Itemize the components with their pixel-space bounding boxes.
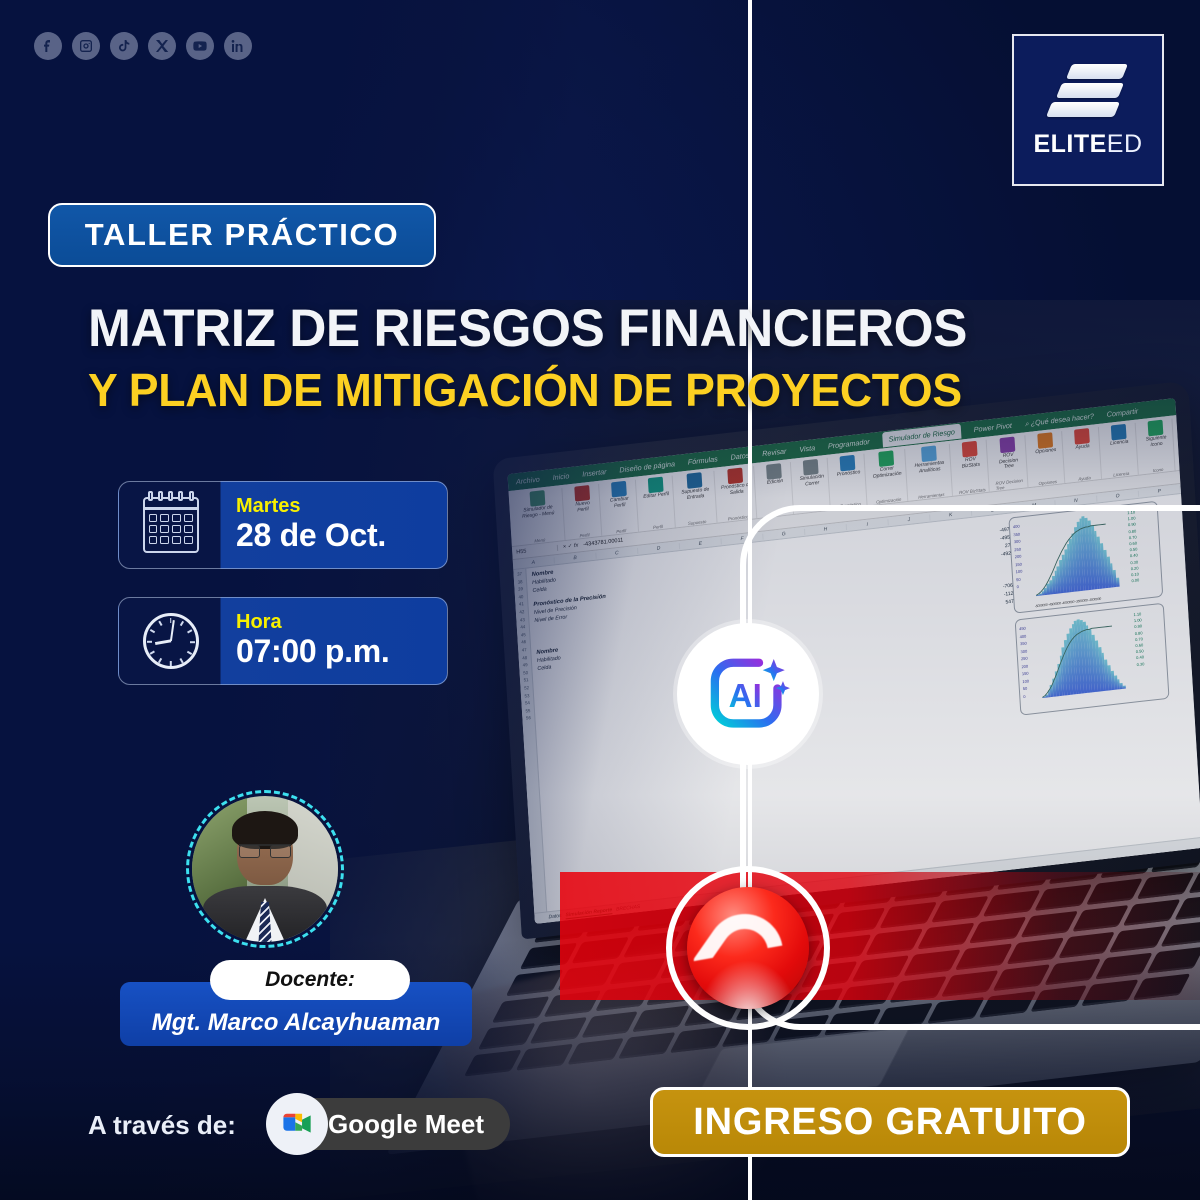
clock-tick [187,629,192,633]
clock-icon [119,613,222,669]
time-text: Hora 07:00 p.m. [222,611,447,671]
workshop-type-badge: TALLER PRÁCTICO [48,203,436,267]
presenter-role-pill: Docente: [210,960,410,1000]
clock-tick [158,658,162,663]
risk-simulator-badge [672,872,824,1024]
logo-text-light: ED [1107,130,1143,158]
cta-button[interactable]: INGRESO GRATUITO [650,1087,1130,1157]
time-card: Hora 07:00 p.m. [118,597,448,685]
social-icons-bar [34,32,252,60]
clock-tick [179,621,183,626]
meet-glyph [280,1110,314,1138]
time-value: 07:00 p.m. [236,633,447,671]
clock-tick [190,641,195,643]
stacked-books-icon [1045,62,1131,124]
clock-tick [158,621,162,626]
date-weekday: Martes [236,495,447,517]
tiktok-icon[interactable] [110,32,138,60]
risk-gloss [699,960,797,1009]
risk-sphere-icon [687,887,809,1009]
x-twitter-icon[interactable] [148,32,176,60]
clock-tick [170,661,172,666]
page-title: MATRIZ DE RIESGOS FINANCIEROS Y PLAN DE … [88,300,1088,417]
clock-tick [170,618,172,623]
google-meet-icon [266,1093,328,1155]
avatar-dashed-ring [186,790,344,948]
calendar-icon [119,497,222,553]
youtube-icon[interactable] [186,32,214,60]
google-meet-label: Google Meet [328,1109,484,1140]
logo-text-bold: ELITE [1033,130,1106,158]
clock-tick [147,641,152,643]
presenter-avatar [186,790,344,948]
eliteed-logo[interactable]: ELITEED [1012,34,1164,186]
linkedin-icon[interactable] [224,32,252,60]
logo-wordmark: ELITEED [1033,130,1142,159]
clock-tick [187,651,192,655]
title-line-2: Y PLAN DE MITIGACIÓN DE PROYECTOS [88,365,1058,417]
clock-tick [149,629,154,633]
date-value: 28 de Oct. [236,517,447,555]
facebook-icon[interactable] [34,32,62,60]
svg-text:AI: AI [729,678,762,715]
instagram-icon[interactable] [72,32,100,60]
date-text: Martes 28 de Oct. [222,495,447,555]
clock-tick [149,651,154,655]
clock-tick [179,658,183,663]
via-label: A través de: [88,1110,236,1141]
date-card: Martes 28 de Oct. [118,481,448,569]
ai-badge: AI [682,628,814,760]
google-meet-badge[interactable]: Google Meet [272,1098,510,1150]
poster-canvas: ArchivoInicioInsertarDiseño de páginaFór… [0,0,1200,1200]
ai-icon: AI [702,648,794,740]
title-line-1: MATRIZ DE RIESGOS FINANCIEROS [88,300,1058,357]
time-label: Hora [236,611,447,633]
